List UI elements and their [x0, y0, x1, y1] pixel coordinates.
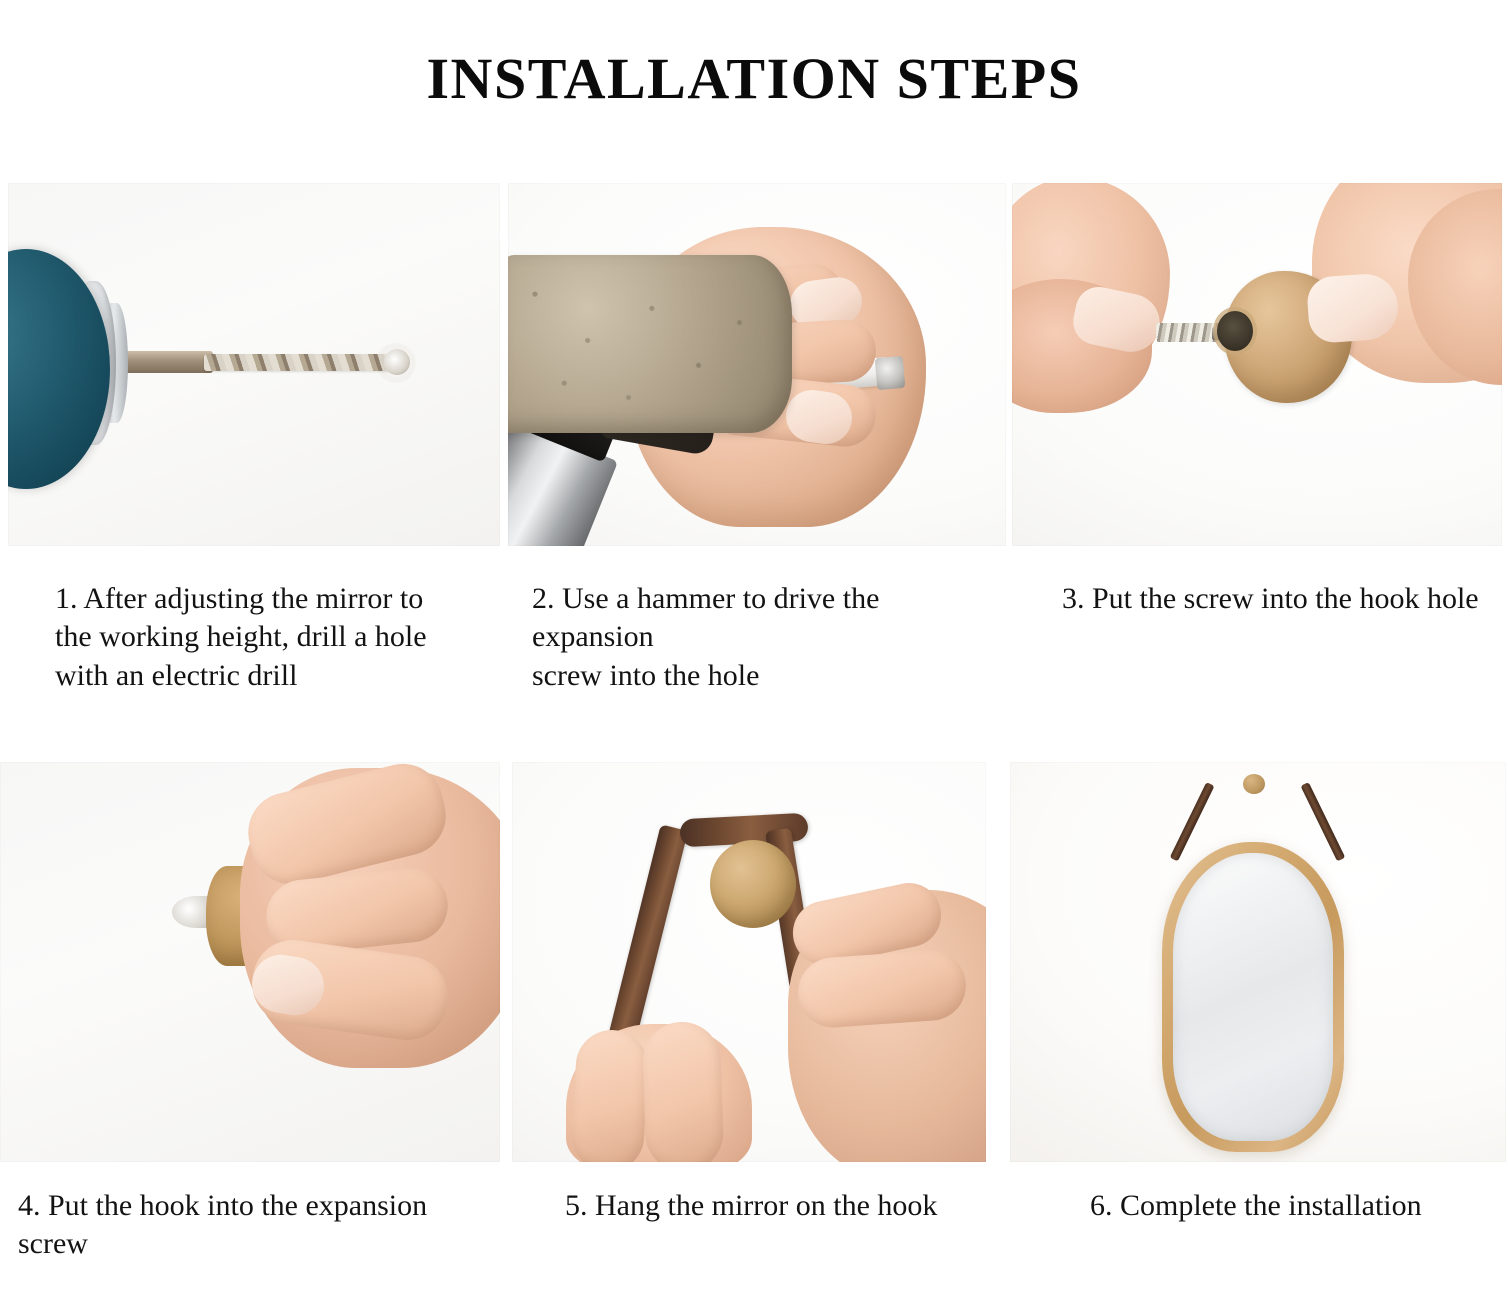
mirror-wood-frame — [1162, 842, 1344, 1152]
drill-bit-flute — [204, 354, 404, 371]
expansion-screw-head — [875, 356, 906, 390]
hammer-scene — [508, 183, 1006, 546]
step-3-caption: 3. Put the screw into the hook hole — [1062, 580, 1502, 618]
finished-mirror-scene — [1010, 762, 1506, 1162]
page-title: INSTALLATION STEPS — [0, 50, 1508, 108]
step-2-caption: 2. Use a hammer to drive the expansion s… — [532, 580, 1002, 695]
step-6-caption: 6. Complete the installation — [1090, 1187, 1508, 1225]
step-5-photo — [512, 762, 986, 1162]
drill-scene — [8, 183, 500, 546]
finger — [796, 948, 968, 1030]
finger — [641, 1021, 724, 1162]
hammer-head — [508, 255, 792, 433]
screw-into-knob-scene — [1012, 183, 1502, 546]
step-6-photo — [1010, 762, 1506, 1162]
step-1-photo — [8, 183, 500, 546]
finger — [570, 1028, 649, 1162]
drill-bit-tip — [384, 349, 410, 375]
step-4-caption: 4. Put the hook into the expansion screw — [18, 1187, 498, 1264]
hook-onto-screw-scene — [0, 762, 500, 1162]
step-5-caption: 5. Hang the mirror on the hook — [565, 1187, 985, 1225]
step-2-photo — [508, 183, 1006, 546]
hook-hole — [1217, 311, 1253, 351]
wooden-hook-knob — [710, 840, 796, 928]
mirror-glass — [1173, 853, 1333, 1141]
step-4-photo — [0, 762, 500, 1162]
hang-strap-scene — [512, 762, 986, 1162]
drill-bit-shank — [121, 351, 213, 373]
step-1-caption: 1. After adjusting the mirror to the wor… — [55, 580, 485, 695]
wooden-hook-knob — [1243, 774, 1265, 794]
step-3-photo — [1012, 183, 1502, 546]
